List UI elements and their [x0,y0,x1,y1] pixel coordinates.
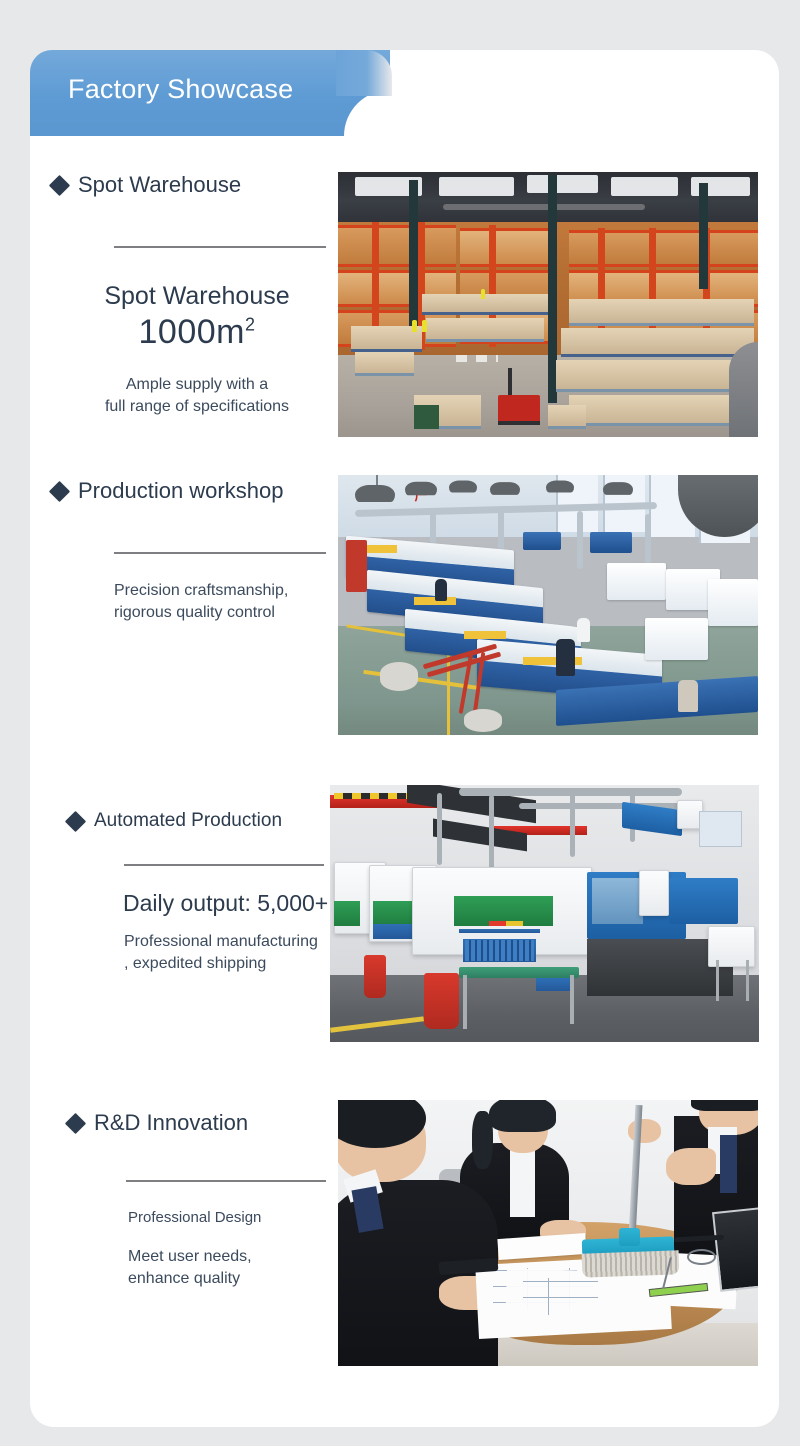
section-1-stat-label: Spot Warehouse [52,282,342,311]
section-3-text-column: Automated Production Daily output: 5,000… [68,810,358,974]
section-spot-warehouse: Spot Warehouse Spot Warehouse 1000m2 Amp… [30,150,779,450]
page-title: Factory Showcase [68,74,293,105]
section-automated-production: Automated Production Daily output: 5,000… [30,755,779,1075]
section-4-desc-line1: Meet user needs, [128,1246,358,1268]
section-2-divider [114,552,326,554]
section-2-heading-row: Production workshop [52,478,342,504]
rd-innovation-photo [338,1100,758,1366]
header-tab: Factory Showcase [30,50,390,136]
diamond-bullet-icon [49,480,70,501]
section-4-divider [126,1180,326,1182]
section-3-desc-line1: Professional manufacturing [124,931,358,953]
section-1-text-column: Spot Warehouse Spot Warehouse 1000m2 Amp… [52,172,342,417]
section-4-heading-row: R&D Innovation [68,1110,358,1136]
section-1-divider [114,246,326,248]
section-1-heading: Spot Warehouse [78,172,241,198]
factory-showcase-page: Factory Showcase Spot Warehouse Spot War… [0,0,800,1446]
section-4-heading: R&D Innovation [94,1110,248,1136]
section-4-desc-line2: enhance quality [128,1268,358,1290]
section-production-workshop: Production workshop Precision craftsmans… [30,450,779,750]
section-3-heading-row: Automated Production [68,810,358,832]
section-3-divider [124,864,324,866]
section-1-stat-value: 1000m2 [52,313,342,352]
header-tab-edge [336,50,392,96]
section-4-stat-label: Professional Design [128,1208,358,1228]
section-2-desc-line1: Precision craftsmanship, [114,580,342,602]
section-2-desc-line2: rigorous quality control [114,602,342,624]
section-3-stat-label: Daily output: 5,000+ [123,890,358,917]
section-1-desc-line2: full range of specifications [52,396,342,418]
workshop-photo: 生 产 [338,475,758,735]
diamond-bullet-icon [65,1112,86,1133]
section-1-desc-line1: Ample supply with a [52,374,342,396]
section-rd-innovation: R&D Innovation Professional Design Meet … [30,1075,779,1405]
automated-production-photo [330,785,759,1042]
warehouse-photo [338,172,758,437]
section-1-stat-unit: 2 [245,315,256,335]
section-1-heading-row: Spot Warehouse [52,172,342,198]
section-3-heading: Automated Production [94,810,282,832]
diamond-bullet-icon [49,174,70,195]
section-2-text-column: Production workshop Precision craftsmans… [52,478,342,623]
diamond-bullet-icon [65,810,86,831]
section-4-text-column: R&D Innovation Professional Design Meet … [68,1110,358,1289]
section-1-stat-number: 1000m [139,313,245,351]
section-3-desc-line2: , expedited shipping [124,953,358,975]
section-2-heading: Production workshop [78,478,283,504]
